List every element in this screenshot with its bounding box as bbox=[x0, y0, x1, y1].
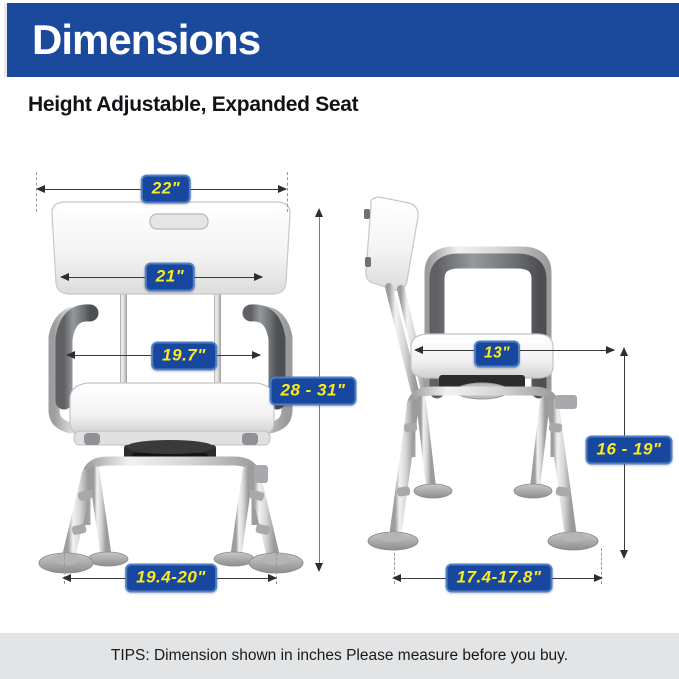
dimension-badge-seat-height: 16 - 19" bbox=[586, 436, 673, 465]
arrow-down-1619 bbox=[620, 550, 628, 559]
arrow-right-22 bbox=[278, 185, 287, 193]
arrow-right-197 bbox=[252, 351, 261, 359]
arrow-up-1619 bbox=[620, 347, 628, 356]
rear-legs bbox=[88, 471, 254, 566]
arrow-up-2831 bbox=[315, 208, 323, 217]
backrest-side bbox=[364, 197, 418, 290]
dimension-badge-leg-span-depth: 17.4-17.8" bbox=[446, 564, 553, 593]
front-legs bbox=[39, 465, 303, 573]
header-banner: Dimensions bbox=[4, 3, 679, 77]
dimensions-infographic: Dimensions Height Adjustable, Expanded S… bbox=[0, 0, 679, 679]
subtitle: Height Adjustable, Expanded Seat bbox=[28, 93, 358, 117]
footer-tip-text: TIPS: Dimension shown in inches Please m… bbox=[111, 647, 568, 665]
arrow-down-2831 bbox=[315, 563, 323, 572]
arrow-right-13 bbox=[606, 346, 615, 354]
arrow-right-21 bbox=[254, 273, 263, 281]
footer-banner: TIPS: Dimension shown in inches Please m… bbox=[0, 633, 679, 679]
dimension-badge-seat-depth: 13" bbox=[474, 341, 520, 368]
dimension-badge-seat-width: 19.7" bbox=[151, 342, 217, 371]
extension-line-right-22 bbox=[287, 172, 288, 212]
front-legs-side bbox=[368, 395, 598, 550]
arrow-left-13 bbox=[414, 346, 423, 354]
dimension-badge-overall-height: 28 - 31" bbox=[270, 377, 357, 406]
arrow-left-21 bbox=[60, 273, 69, 281]
dimension-badge-backrest-width: 21" bbox=[145, 263, 195, 292]
arrow-right-174 bbox=[594, 574, 603, 582]
side-view-illustration bbox=[363, 195, 603, 585]
side-view-svg bbox=[363, 195, 603, 585]
arrow-right-194 bbox=[268, 574, 277, 582]
arrow-left-174 bbox=[392, 574, 401, 582]
arrow-left-194 bbox=[62, 574, 71, 582]
seat bbox=[70, 383, 274, 445]
dimension-badge-leg-span-width: 19.4-20" bbox=[125, 564, 217, 593]
page-title: Dimensions bbox=[7, 19, 260, 61]
arrow-left-22 bbox=[36, 185, 45, 193]
dimension-badge-overall-width: 22" bbox=[141, 175, 191, 204]
arrow-left-197 bbox=[66, 351, 75, 359]
